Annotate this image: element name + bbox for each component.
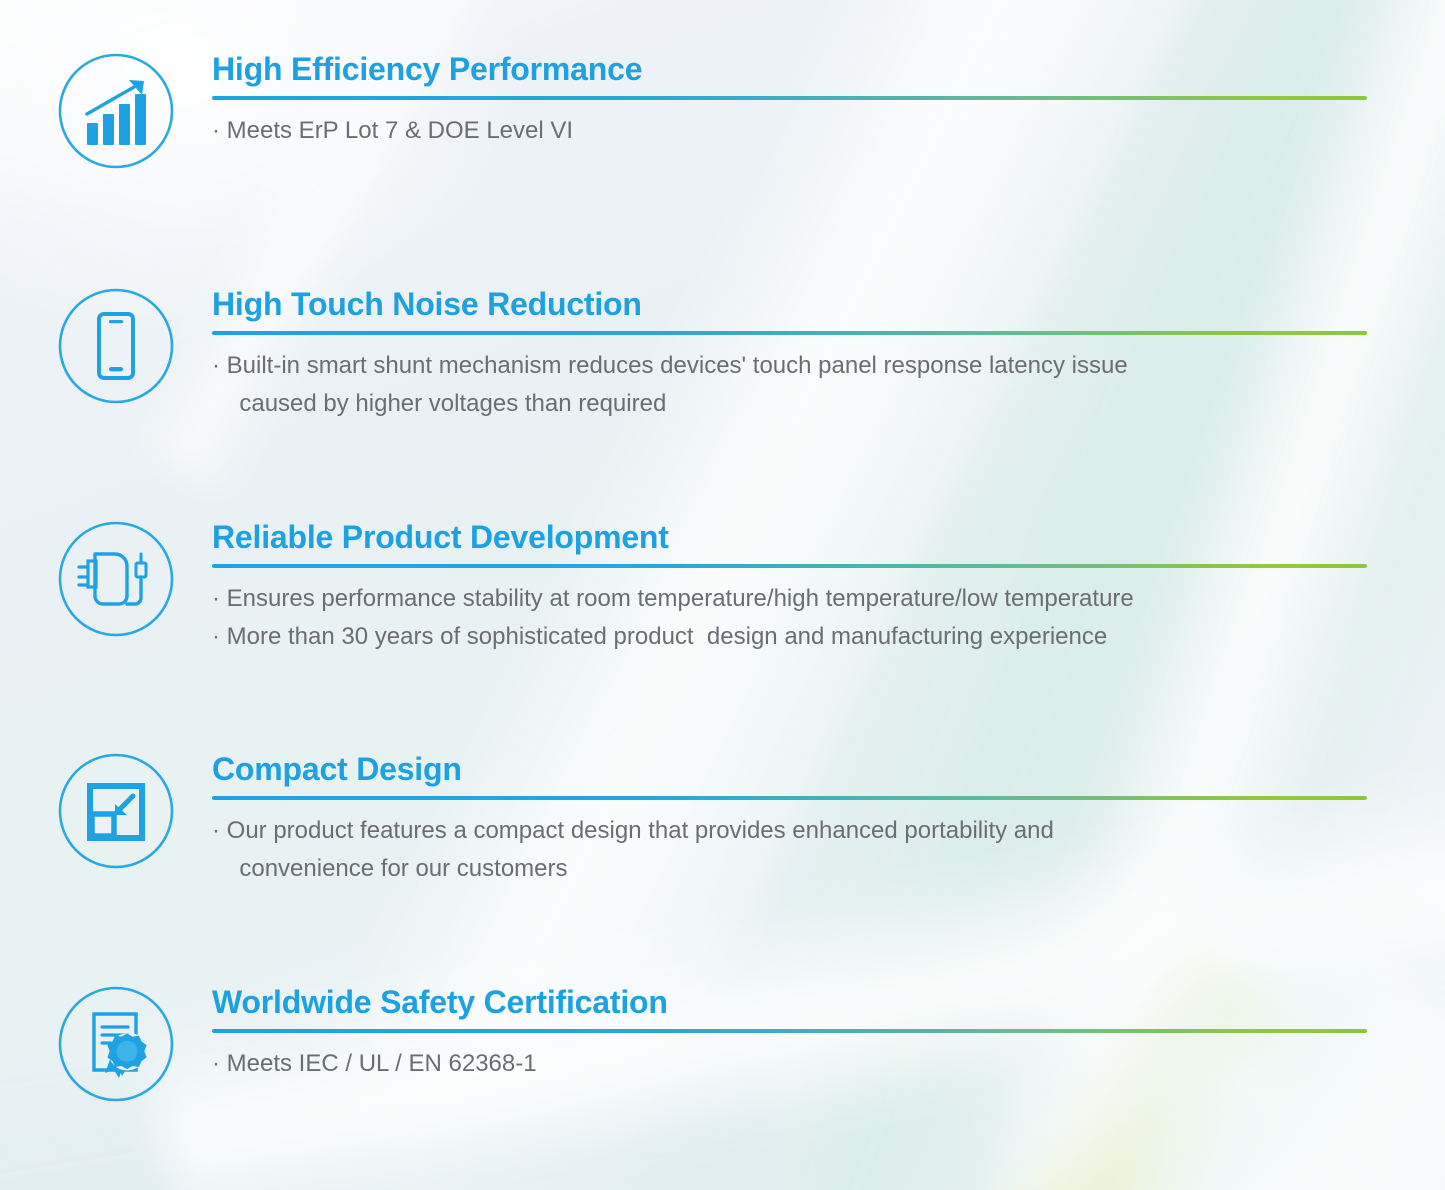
feature-title: Compact Design (212, 752, 1367, 787)
feature-title: Reliable Product Development (212, 520, 1367, 555)
feature-bullets: · Ensures performance stability at room … (212, 580, 1367, 656)
bullet-text: · Ensures performance stability at room … (212, 580, 1367, 618)
feature-divider (212, 96, 1367, 100)
bar-chart-growth-icon (57, 52, 175, 170)
feature-divider (212, 331, 1367, 335)
feature-body: High Touch Noise Reduction · Built-in sm… (212, 287, 1367, 423)
feature-divider (212, 564, 1367, 568)
bullet-text: · Built-in smart shunt mechanism reduces… (212, 347, 1367, 423)
bullet-text: · More than 30 years of sophisticated pr… (212, 618, 1367, 656)
certificate-award-icon (57, 985, 175, 1103)
compact-resize-icon (57, 752, 175, 870)
power-adapter-icon (57, 520, 175, 638)
feature-body: Compact Design · Our product features a … (212, 752, 1367, 888)
bullet-text: · Meets IEC / UL / EN 62368-1 (212, 1045, 1367, 1083)
feature-bullets: · Meets IEC / UL / EN 62368-1 (212, 1045, 1367, 1083)
feature-body: High Efficiency Performance · Meets ErP … (212, 52, 1367, 150)
feature-body: Reliable Product Development · Ensures p… (212, 520, 1367, 656)
feature-bullets: · Our product features a compact design … (212, 812, 1367, 888)
bullet-text: · Our product features a compact design … (212, 812, 1367, 888)
smartphone-icon (57, 287, 175, 405)
bullet-text: · Meets ErP Lot 7 & DOE Level VI (212, 112, 1367, 150)
feature-title: Worldwide Safety Certification (212, 985, 1367, 1020)
feature-divider (212, 796, 1367, 800)
feature-bullets: · Built-in smart shunt mechanism reduces… (212, 347, 1367, 423)
feature-slide: High Efficiency Performance · Meets ErP … (0, 0, 1445, 1190)
feature-title: High Touch Noise Reduction (212, 287, 1367, 322)
feature-body: Worldwide Safety Certification · Meets I… (212, 985, 1367, 1083)
feature-divider (212, 1029, 1367, 1033)
feature-bullets: · Meets ErP Lot 7 & DOE Level VI (212, 112, 1367, 150)
feature-title: High Efficiency Performance (212, 52, 1367, 87)
